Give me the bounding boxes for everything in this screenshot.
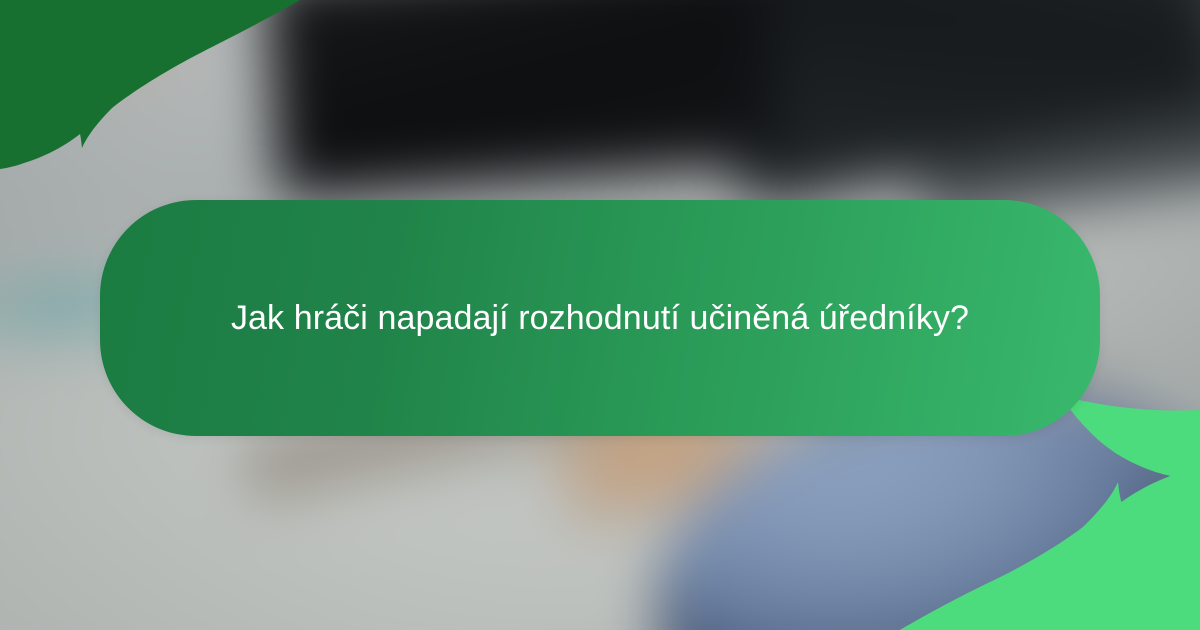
quote-text: Jak hráči napadají rozhodnutí učiněná úř… <box>191 292 1009 345</box>
quote-card: Jak hráči napadají rozhodnutí učiněná úř… <box>100 200 1100 436</box>
social-card-canvas: Jak hráči napadají rozhodnutí učiněná úř… <box>0 0 1200 630</box>
